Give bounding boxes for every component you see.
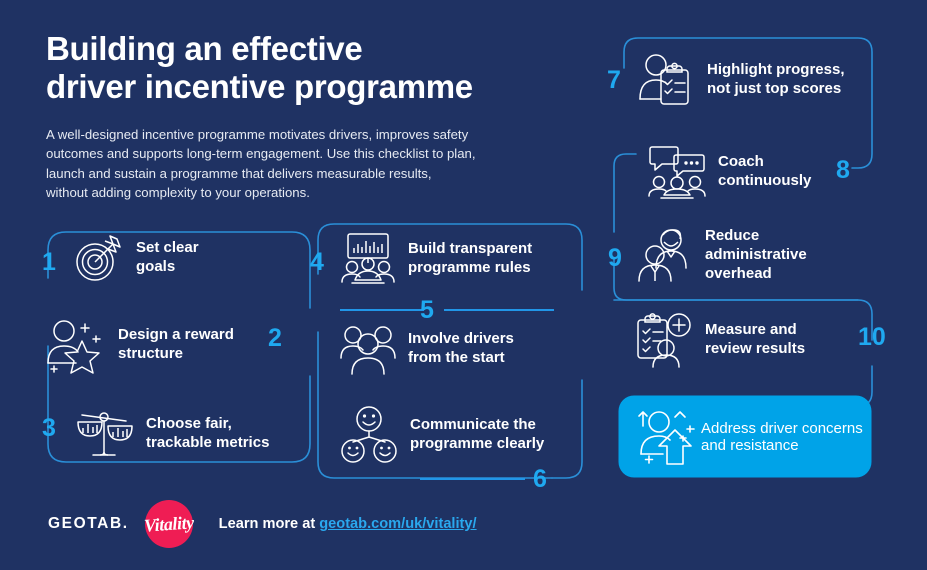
vitality-url-link[interactable]: geotab.com/uk/vitality/ xyxy=(319,516,476,532)
divider-line-right-5 xyxy=(444,309,554,311)
list-item-set-clear-goals: Set clear goals xyxy=(72,232,199,284)
vitality-logo-text: Vitality xyxy=(143,512,194,536)
list-item-measure-review-results: Measure and review results xyxy=(635,312,805,368)
target-arrow-icon xyxy=(72,232,124,284)
header-block: Building an effective driver incentive p… xyxy=(46,30,566,203)
list-item-label: Address driver concerns and resistance xyxy=(701,420,869,454)
list-item-label: Measure and review results xyxy=(705,321,805,359)
list-item-label: Set clear goals xyxy=(136,239,199,277)
presentation-meeting-icon xyxy=(340,232,396,286)
divider-line-6 xyxy=(420,478,525,480)
list-item-design-reward-structure: Design a reward structure xyxy=(44,316,234,374)
list-item-communicate-clearly: Communicate the programme clearly xyxy=(340,406,544,464)
smiley-faces-network-icon xyxy=(340,406,398,464)
list-item-highlight-progress: Highlight progress, not just top scores xyxy=(637,52,845,108)
step-number-2: 2 xyxy=(268,326,282,351)
list-item-address-driver-concerns[interactable]: Address driver concerns and resistance xyxy=(621,398,869,475)
list-item-label: Build transparent programme rules xyxy=(408,240,532,278)
list-item-label: Choose fair, trackable metrics xyxy=(146,415,269,453)
person-up-arrow-icon xyxy=(637,408,701,466)
geotab-logo: GEOTAB. xyxy=(48,515,129,533)
list-item-label: Coach continuously xyxy=(718,153,811,191)
list-item-label: Highlight progress, not just top scores xyxy=(707,61,845,99)
learn-more-text: Learn more at geotab.com/uk/vitality/ xyxy=(219,516,477,532)
step-number-9: 9 xyxy=(608,246,622,271)
list-item-label: Involve drivers from the start xyxy=(408,330,514,368)
page-subtitle: A well-designed incentive programme moti… xyxy=(46,125,566,203)
list-item-involve-drivers: Involve drivers from the start xyxy=(340,322,514,376)
step-number-4: 4 xyxy=(310,250,324,275)
list-item-coach-continuously: Coach continuously xyxy=(648,144,811,200)
list-item-reduce-admin-overhead: Reduce administrative overhead xyxy=(637,227,807,284)
list-item-label: Reduce administrative overhead xyxy=(705,227,807,284)
person-star-icon xyxy=(44,316,106,374)
divider-line-left-5 xyxy=(340,309,424,311)
two-office-workers-icon xyxy=(637,227,693,283)
step-number-8: 8 xyxy=(836,158,850,183)
clipboard-plus-person-icon xyxy=(635,312,693,368)
list-item-build-transparent-rules: Build transparent programme rules xyxy=(340,232,532,286)
list-item-choose-fair-metrics: Choose fair, trackable metrics xyxy=(74,406,269,462)
balance-scales-chart-icon xyxy=(74,406,134,462)
page-title: Building an effective driver incentive p… xyxy=(46,30,566,107)
person-clipboard-checklist-icon xyxy=(637,52,695,108)
speech-bubbles-meeting-icon xyxy=(648,144,706,200)
step-number-3: 3 xyxy=(42,416,56,441)
footer: GEOTAB. Vitality Learn more at geotab.co… xyxy=(48,500,477,548)
list-item-label: Design a reward structure xyxy=(118,326,234,364)
step-number-7: 7 xyxy=(607,68,621,93)
list-item-label: Communicate the programme clearly xyxy=(410,416,544,454)
learn-more-label: Learn more at xyxy=(219,516,320,532)
vitality-logo: Vitality xyxy=(145,500,193,548)
step-number-1: 1 xyxy=(42,250,56,275)
step-number-5: 5 xyxy=(420,298,434,323)
step-number-10: 10 xyxy=(858,325,886,350)
three-people-group-icon xyxy=(340,322,396,376)
step-number-6: 6 xyxy=(533,467,547,492)
infographic-canvas: Building an effective driver incentive p… xyxy=(0,0,927,570)
